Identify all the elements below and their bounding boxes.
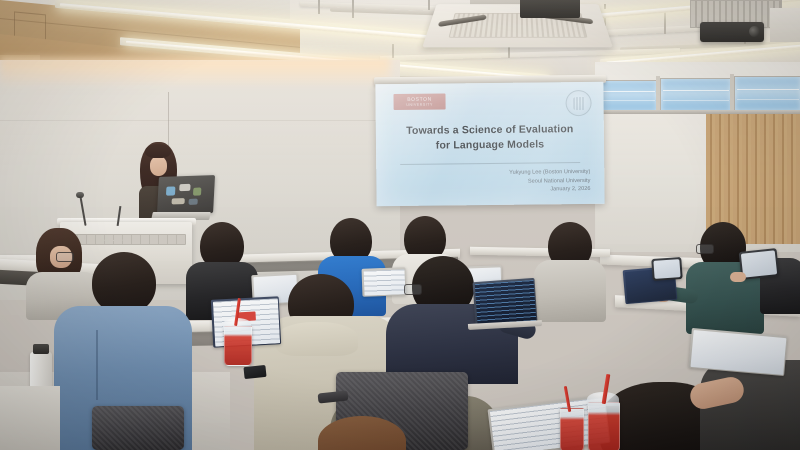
eyeglasses — [56, 252, 74, 262]
slide-date: January 2, 2026 — [440, 185, 590, 195]
wall-seam — [0, 120, 400, 121]
desk-edge — [0, 386, 60, 450]
projection-screen: BOSTON UNIVERSITY Towards a Science of E… — [375, 82, 604, 206]
hand — [730, 272, 746, 282]
window-mullion — [730, 74, 734, 110]
ceiling-projector — [700, 22, 764, 42]
iced-drink-red — [588, 402, 620, 450]
presenter-laptop — [157, 175, 215, 215]
lecture-hall-photo: BOSTON UNIVERSITY Towards a Science of E… — [0, 0, 800, 450]
hanger-rod — [318, 0, 320, 14]
right-white-wall — [596, 114, 706, 244]
tablet — [651, 257, 682, 281]
student-grey-top — [534, 260, 606, 322]
snu-seal-icon — [565, 90, 591, 116]
clerestory-window — [598, 80, 658, 112]
wall-cove-light — [0, 58, 390, 88]
ceiling-ac-cassette — [422, 4, 613, 47]
iced-drink-red — [224, 326, 252, 366]
slide-author-block: Yukyung Lee (Boston University) Seoul Na… — [440, 168, 590, 195]
slide-divider — [400, 162, 580, 165]
microphone-head — [76, 192, 84, 198]
cable — [100, 236, 126, 241]
clerestory-window — [660, 78, 732, 112]
eyeglasses — [696, 244, 714, 254]
tumbler-cap — [33, 344, 49, 354]
iced-drink-red — [560, 408, 584, 450]
hanger-rod — [428, 0, 430, 10]
slide-title-line2: for Language Models — [390, 137, 590, 154]
eyeglasses — [404, 284, 422, 295]
student-head — [92, 252, 156, 314]
boston-university-logo: BOSTON UNIVERSITY — [393, 93, 445, 110]
laptop — [362, 267, 407, 297]
lectern-control-panel — [68, 234, 186, 245]
window-mullion — [656, 76, 660, 111]
hanger-rod — [352, 0, 354, 18]
hanger-rod — [392, 44, 394, 58]
laptop — [688, 328, 787, 376]
hood — [276, 322, 358, 356]
smartphone — [243, 365, 266, 379]
bu-logo-line2: UNIVERSITY — [406, 102, 433, 107]
presenter-fringe — [145, 144, 171, 158]
presenter-face — [150, 156, 167, 176]
slide-title-line1: Towards a Science of Evaluation — [390, 122, 590, 139]
slide-title: Towards a Science of Evaluation for Lang… — [390, 122, 590, 154]
laptop — [473, 278, 538, 326]
seam — [96, 330, 98, 400]
ceiling-panel — [770, 8, 800, 42]
ac-duct-dark — [520, 0, 580, 18]
mesh-office-chair — [92, 406, 184, 450]
projector-lens — [749, 26, 760, 37]
clerestory-window — [734, 76, 800, 111]
